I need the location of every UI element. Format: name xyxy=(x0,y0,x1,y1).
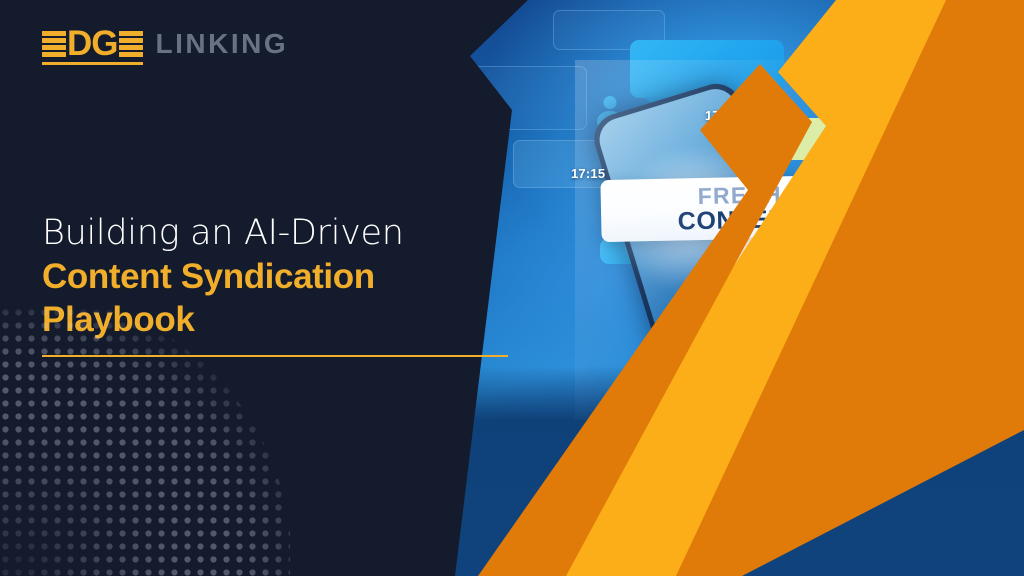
timestamp: 17:09 xyxy=(705,108,739,123)
logo-linking-text: LINKING xyxy=(156,30,289,58)
ui-card-outline xyxy=(891,246,987,290)
photo-lower-backdrop xyxy=(455,366,1024,576)
halftone-dots-decoration xyxy=(0,306,290,576)
timestamp: 17:30 xyxy=(814,296,848,311)
slide-canvas: FRESH CONTENT 17:05 17:09 17:15 xyxy=(0,0,1024,576)
logo-edge-mark: DG EDGE xyxy=(42,30,143,58)
hero-photo: FRESH CONTENT 17:05 17:09 17:15 xyxy=(455,0,1024,576)
ui-card-outline xyxy=(469,66,587,130)
logo-e-bars-right xyxy=(119,31,143,58)
logo-e-bars-left xyxy=(42,31,66,58)
thumbnail-plate xyxy=(802,210,854,264)
brand-logo[interactable]: DG EDGE LINKING xyxy=(42,30,288,58)
timestamp: 17:05 xyxy=(805,38,839,53)
timestamp: 17:15 xyxy=(571,166,605,181)
timestamp: 17:21 xyxy=(869,256,901,270)
logo-dg-letters: DG xyxy=(67,30,118,58)
logo-edge-letters: DG xyxy=(42,30,143,58)
headline-line-1: Building an AI-Driven xyxy=(42,212,462,255)
headline-line-2: Content Syndication xyxy=(42,255,462,298)
avatar-person-green-icon xyxy=(909,340,935,368)
logo-underline xyxy=(42,62,143,65)
timestamp: 17:30 xyxy=(698,334,730,348)
